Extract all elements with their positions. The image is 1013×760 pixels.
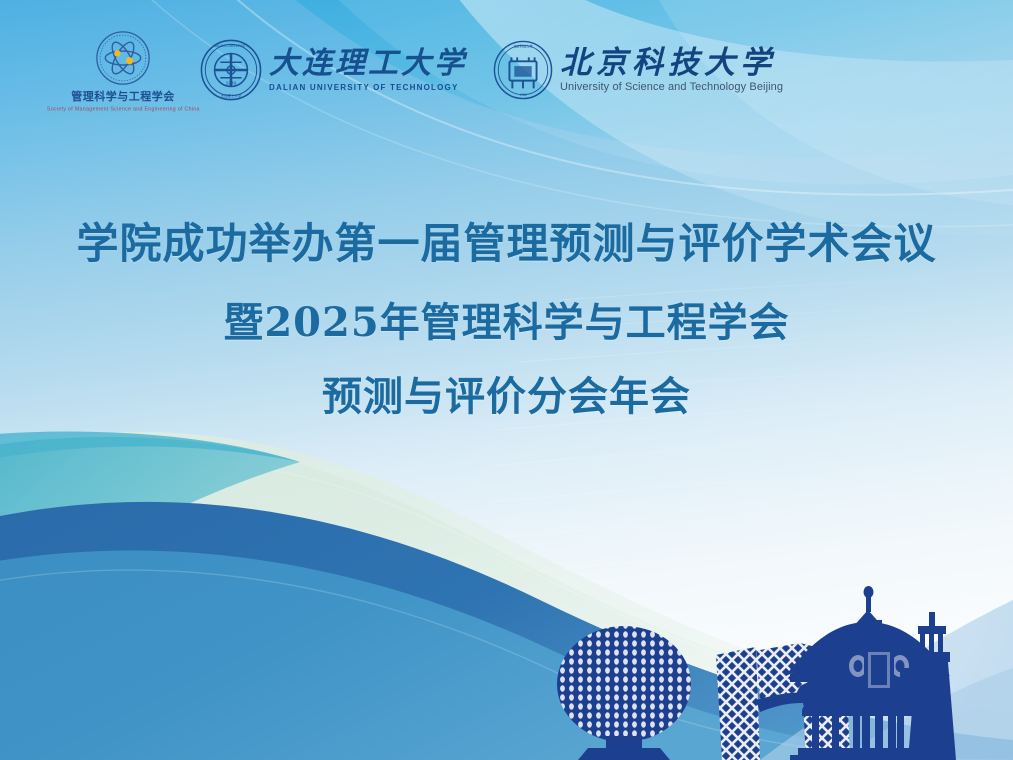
huabiao-icon <box>846 620 912 760</box>
logo-ustb-cn-name: 北京科技大学 <box>560 47 783 78</box>
logo-ustb-en-name: University of Science and Technology Bei… <box>560 81 783 93</box>
conference-banner-slide: 管理科学与工程学会 Society of Management Science … <box>0 0 1013 760</box>
partner-logo-bar: 管理科学与工程学会 Society of Management Science … <box>68 30 783 110</box>
logo-smse-cn-name: 管理科学与工程学会 <box>71 88 175 104</box>
dut-seal-icon: 1949 DALIAN UNIVERSITY 大连理工大学 <box>200 39 262 101</box>
svg-text:1952: 1952 <box>519 93 526 97</box>
logo-smse: 管理科学与工程学会 Society of Management Science … <box>68 30 178 110</box>
title-line-1: 学院成功举办第一届管理预测与评价学术会议 <box>40 222 973 266</box>
svg-text:DALIAN UNIVERSITY: DALIAN UNIVERSITY <box>214 44 249 48</box>
lighthouse-tower-icon <box>900 612 956 760</box>
title-line-2: 暨2025年管理科学与工程学会 <box>40 302 973 344</box>
logo-dut: 1949 DALIAN UNIVERSITY 大连理工大学 大连理工大学 DAL… <box>200 39 467 101</box>
atom-emblem-icon <box>95 30 151 86</box>
slide-title-block: 学院成功举办第一届管理预测与评价学术会议 暨2025年管理科学与工程学会 预测与… <box>0 222 1013 418</box>
svg-text:大连理工大学: 大连理工大学 <box>221 93 242 98</box>
logo-smse-en-name: Society of Management Science and Engine… <box>47 106 200 112</box>
svg-text:1949: 1949 <box>226 81 237 87</box>
logo-ustb: 北京科技大学 1952 北京科技大学 University of Science… <box>493 40 783 100</box>
logo-dut-en-name: DALIAN UNIVERSITY OF TECHNOLOGY <box>269 83 467 92</box>
ustb-ding-icon: 北京科技大学 1952 <box>493 40 553 100</box>
svg-text:北京科技大学: 北京科技大学 <box>513 44 533 49</box>
logo-dut-cn-name: 大连理工大学 <box>269 49 467 79</box>
title-line-3: 预测与评价分会年会 <box>40 376 973 418</box>
